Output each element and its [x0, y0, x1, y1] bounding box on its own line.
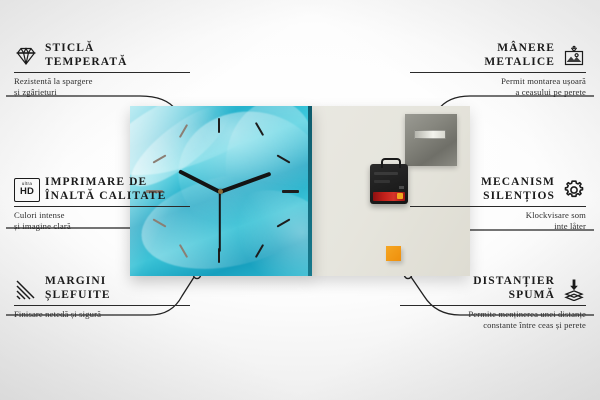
diagonal-lines-icon — [14, 277, 38, 301]
feature-silent-mechanism[interactable]: MECANISM SILENȚIOS Klockvisare som inte … — [410, 176, 586, 231]
clock-tick — [282, 190, 299, 193]
clock-second-hand — [219, 192, 221, 252]
hanger-slot — [414, 130, 446, 139]
divider — [14, 206, 190, 207]
feature-header: ultra HD IMPRIMARE DE ÎNALTĂ CALITATE — [14, 176, 190, 203]
metal-hanger-part — [405, 114, 457, 166]
feature-description: Finisare netedă și sigură — [14, 309, 190, 320]
feature-polished-edges[interactable]: MARGINI ȘLEFUITE Finisare netedă și sigu… — [14, 275, 190, 320]
divider — [410, 72, 586, 73]
feature-title: IMPRIMARE DE ÎNALTĂ CALITATE — [45, 176, 166, 203]
feature-title: MÂNERE METALICE — [484, 42, 555, 69]
mechanism-hang-loop — [381, 158, 401, 168]
mechanism-detail — [374, 172, 398, 175]
gear-icon — [562, 178, 586, 202]
feature-header: STICLĂ TEMPERATĂ — [14, 42, 190, 69]
feature-foam-spacer[interactable]: DISTANȚIER SPUMĂ Permite menținerea unei… — [400, 275, 586, 330]
feature-description: Culori intense și imagine clară — [14, 210, 190, 231]
arrow-press-layers-icon — [562, 277, 586, 301]
framed-picture-icon — [562, 44, 586, 68]
feature-description: Rezistentă la spargere și zgârieturi — [14, 76, 190, 97]
mechanism-detail — [399, 186, 404, 189]
feature-metal-handles[interactable]: MÂNERE METALICE Permit montarea ușoară a… — [410, 42, 586, 97]
feature-header: DISTANȚIER SPUMĂ — [400, 275, 586, 302]
feature-description: Permit montarea ușoară a ceasului pe per… — [410, 76, 586, 97]
ultra-hd-icon: ultra HD — [14, 178, 38, 202]
feature-high-quality-print[interactable]: ultra HD IMPRIMARE DE ÎNALTĂ CALITATE Cu… — [14, 176, 190, 231]
feature-header: MÂNERE METALICE — [410, 42, 586, 69]
clock-tick — [218, 118, 220, 133]
feature-title: MECANISM SILENȚIOS — [481, 176, 555, 203]
glass-edge — [308, 106, 312, 276]
feature-description: Klockvisare som inte låter — [410, 210, 586, 231]
feature-title: DISTANȚIER SPUMĂ — [473, 275, 555, 302]
feature-header: MARGINI ȘLEFUITE — [14, 275, 190, 302]
divider — [14, 305, 190, 306]
battery-part — [373, 192, 405, 201]
feature-title: STICLĂ TEMPERATĂ — [45, 42, 128, 69]
mechanism-detail — [374, 180, 390, 183]
divider — [400, 305, 586, 306]
diamond-icon — [14, 44, 38, 68]
divider — [410, 206, 586, 207]
feature-header: MECANISM SILENȚIOS — [410, 176, 586, 203]
feature-description: Permite menținerea unei distanțe constan… — [400, 309, 586, 330]
clock-center-cap — [218, 189, 223, 194]
foam-spacer-part — [386, 246, 401, 261]
infographic-canvas: STICLĂ TEMPERATĂ Rezistentă la spargere … — [0, 0, 600, 400]
feature-title: MARGINI ȘLEFUITE — [45, 275, 111, 302]
feature-tempered-glass[interactable]: STICLĂ TEMPERATĂ Rezistentă la spargere … — [14, 42, 190, 97]
clock-mechanism-part — [370, 164, 408, 204]
divider — [14, 72, 190, 73]
